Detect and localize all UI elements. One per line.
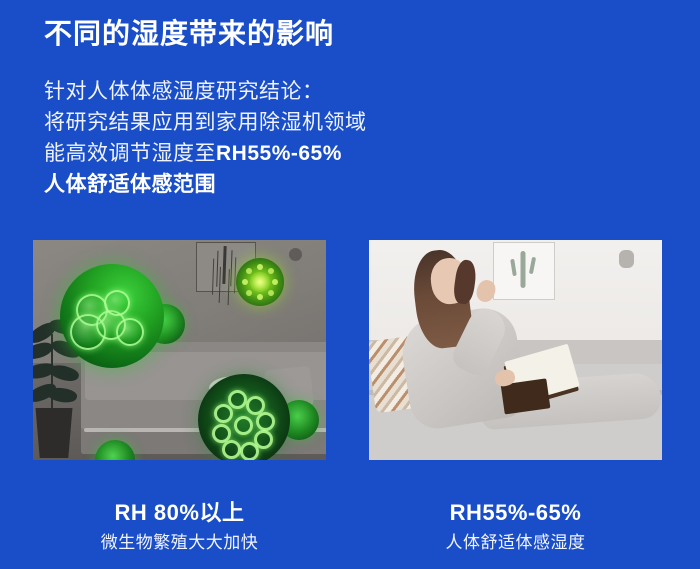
bright-room-scene: [369, 240, 662, 460]
microbe-ring: [240, 442, 259, 460]
microbe-virus-sphere: [236, 258, 284, 306]
caption-left-subtitle: 微生物繁殖大大加快: [33, 533, 326, 553]
humidity-range-highlight: RH55%-65%: [216, 142, 342, 165]
microbe-sphere-dark: [198, 374, 290, 460]
body-copy: 针对人体体感湿度研究结论： 将研究结果应用到家用除湿机领域 能高效调节湿度至RH…: [44, 76, 367, 200]
dark-room-scene: [33, 240, 326, 460]
microbe-ring: [256, 412, 275, 431]
cactus-wall-art: [493, 242, 555, 300]
caption-right-title: RH55%-65%: [369, 499, 662, 527]
photo-panel-comfort-humidity: [369, 240, 662, 460]
caption-right-subtitle: 人体舒适体感湿度: [369, 533, 662, 553]
plant-pot: [33, 408, 75, 458]
caption-high-humidity: RH 80%以上 微生物繁殖大大加快: [33, 499, 326, 553]
caption-comfort-humidity: RH55%-65% 人体舒适体感湿度: [369, 499, 662, 553]
infographic-poster: 不同的湿度带来的影响 针对人体体感湿度研究结论： 将研究结果应用到家用除湿机领域…: [0, 0, 700, 569]
microbe-ring: [222, 440, 241, 459]
wall-speaker-icon: [619, 250, 634, 268]
microbe-sphere-large: [60, 264, 164, 368]
microbe-cell: [116, 318, 144, 346]
body-line-4: 人体舒适体感范围: [44, 169, 367, 200]
caption-left-title: RH 80%以上: [33, 499, 326, 527]
photo-panel-high-humidity: [33, 240, 326, 460]
microbe-ring: [228, 390, 247, 409]
microbe-ring: [214, 404, 233, 423]
wall-speaker-icon: [289, 248, 302, 261]
microbe-ring: [212, 424, 231, 443]
body-line-1: 针对人体体感湿度研究结论：: [44, 76, 367, 107]
page-title: 不同的湿度带来的影响: [44, 18, 334, 50]
body-line-2: 将研究结果应用到家用除湿机领域: [44, 107, 367, 138]
body-line-3-prefix: 能高效调节湿度至: [44, 142, 216, 165]
cactus-icon: [520, 251, 525, 288]
body-line-3: 能高效调节湿度至RH55%-65%: [44, 138, 367, 169]
microbe-ring: [234, 416, 253, 435]
microbe-cell: [104, 290, 130, 316]
